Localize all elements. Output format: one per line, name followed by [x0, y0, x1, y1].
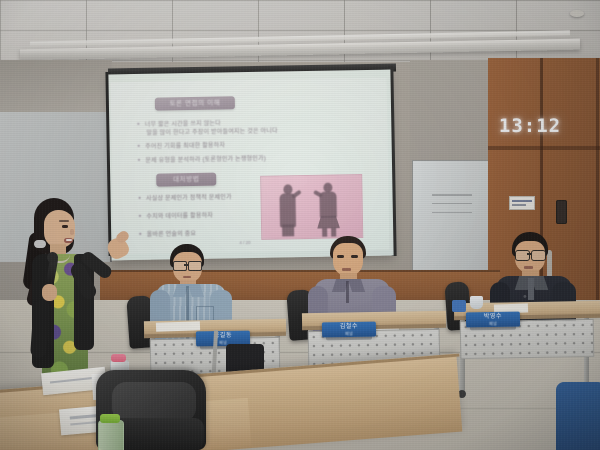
speaker-hair-tie: [34, 240, 46, 248]
speaker-eyebrow: [59, 220, 69, 222]
slide-heading-1: 토론 면접의 이해: [155, 96, 235, 110]
chair-blue-right[interactable]: [556, 382, 600, 450]
cabinet-door-seam: [596, 58, 599, 316]
slide-bullet-4: 사실상 문제인가 정책적 문제인가: [138, 192, 254, 204]
speaker-nose: [70, 229, 74, 235]
paper-cup: [470, 296, 483, 309]
slide-heading-2: 대처방법: [156, 173, 216, 187]
nameplate-left-role: 패널: [219, 339, 227, 344]
speaker-hand-holding-mic: [42, 284, 57, 301]
silhouette-female-arm: [313, 190, 323, 198]
photo-scene: 토론 면접의 이해 너무 짧은 시간을 쓰지 않는다 말을 많이 한다고 주장이…: [0, 0, 600, 450]
slide-heading-1-text: 토론 면접의 이해: [155, 96, 235, 110]
slide-silhouette-image: [260, 174, 363, 240]
slide-bullet-5-line1: 수치와 데이터를 활용하자: [146, 213, 213, 220]
slide-bullet-6-line1: 올바른 언술의 중요: [147, 231, 197, 238]
slide-bullet-2-line1: 주어진 기회를 최대한 활용하자: [145, 143, 225, 150]
slide-bullet-2: 주어진 기회를 최대한 활용하자: [138, 138, 348, 152]
panelist-2-eye: [351, 255, 358, 258]
slide-bullet-4-line1: 사실상 문제인가 정책적 문제인가: [146, 195, 232, 202]
glasses-icon: [188, 261, 202, 271]
slide-heading-2-text: 대처방법: [156, 173, 216, 187]
panelist-2-mouth: [342, 268, 351, 271]
speaker-teeth: [66, 239, 72, 241]
glasses-icon: [531, 250, 546, 261]
slide-page-number: 4 / 20: [239, 240, 250, 245]
slide-bullet-6: 올바른 언술의 중요: [139, 228, 255, 240]
slide-bullet-3: 문제 유형을 분석하라 (토론형인가 논쟁형인가): [138, 152, 354, 166]
bottle-cap-green[interactable]: [100, 414, 120, 423]
smoke-detector-icon: [570, 10, 584, 17]
glasses-bridge: [527, 253, 532, 255]
whiteboard-writing: [432, 190, 472, 224]
desk-blue-item: [452, 300, 466, 312]
left-wall-upper: [0, 60, 112, 112]
clock-time: 13:12: [499, 115, 561, 137]
nameplate-middle-role: 패널: [345, 330, 353, 335]
silhouette-male-arm: [291, 190, 301, 199]
glasses-icon: [173, 261, 187, 271]
nameplate-right-role: 패널: [489, 320, 497, 325]
silhouette-male-legs: [282, 224, 294, 236]
panelist-3-placket: [528, 278, 534, 300]
nameplate-middle: 김철수 패널: [322, 322, 376, 338]
panelist-3-mouth: [524, 266, 533, 269]
nameplate-right: 박영수 패널: [466, 312, 520, 328]
cabinet-rail: [488, 146, 600, 150]
desk-paper: [156, 321, 200, 332]
slide-bullet-1-line1: 너무 짧은 시간을 쓰지 않는다: [145, 121, 221, 128]
panelist-1-mouth: [183, 276, 191, 278]
slide-bullet-1: 너무 짧은 시간을 쓰지 않는다 말을 많이 한다고 주장이 받아들여지는 것은…: [137, 116, 347, 138]
panelist-2-placket: [346, 281, 349, 303]
speaker-eye: [62, 225, 68, 228]
chair-foreground-backrest: [112, 382, 196, 422]
panelist-2-face: [333, 243, 363, 276]
slide-bullet-5: 수치와 데이터를 활용하자: [139, 210, 255, 222]
light-switch[interactable]: [556, 200, 567, 224]
glasses-bridge: [184, 264, 189, 266]
panelist-2-eye: [337, 255, 344, 258]
green-drink-bottle[interactable]: [98, 420, 124, 450]
projected-slide: 토론 면접의 이해 너무 짧은 시간을 쓰지 않는다 말을 많이 한다고 주장이…: [111, 78, 390, 255]
glasses-icon: [515, 250, 530, 261]
digital-clock: 13:12: [503, 113, 557, 139]
bottle-cap-pink[interactable]: [111, 354, 126, 362]
slide-bullet-3-line1: 문제 유형을 분석하라 (토론형인가 논쟁형인가): [145, 156, 266, 164]
cabinet-label-sign: [509, 196, 535, 210]
